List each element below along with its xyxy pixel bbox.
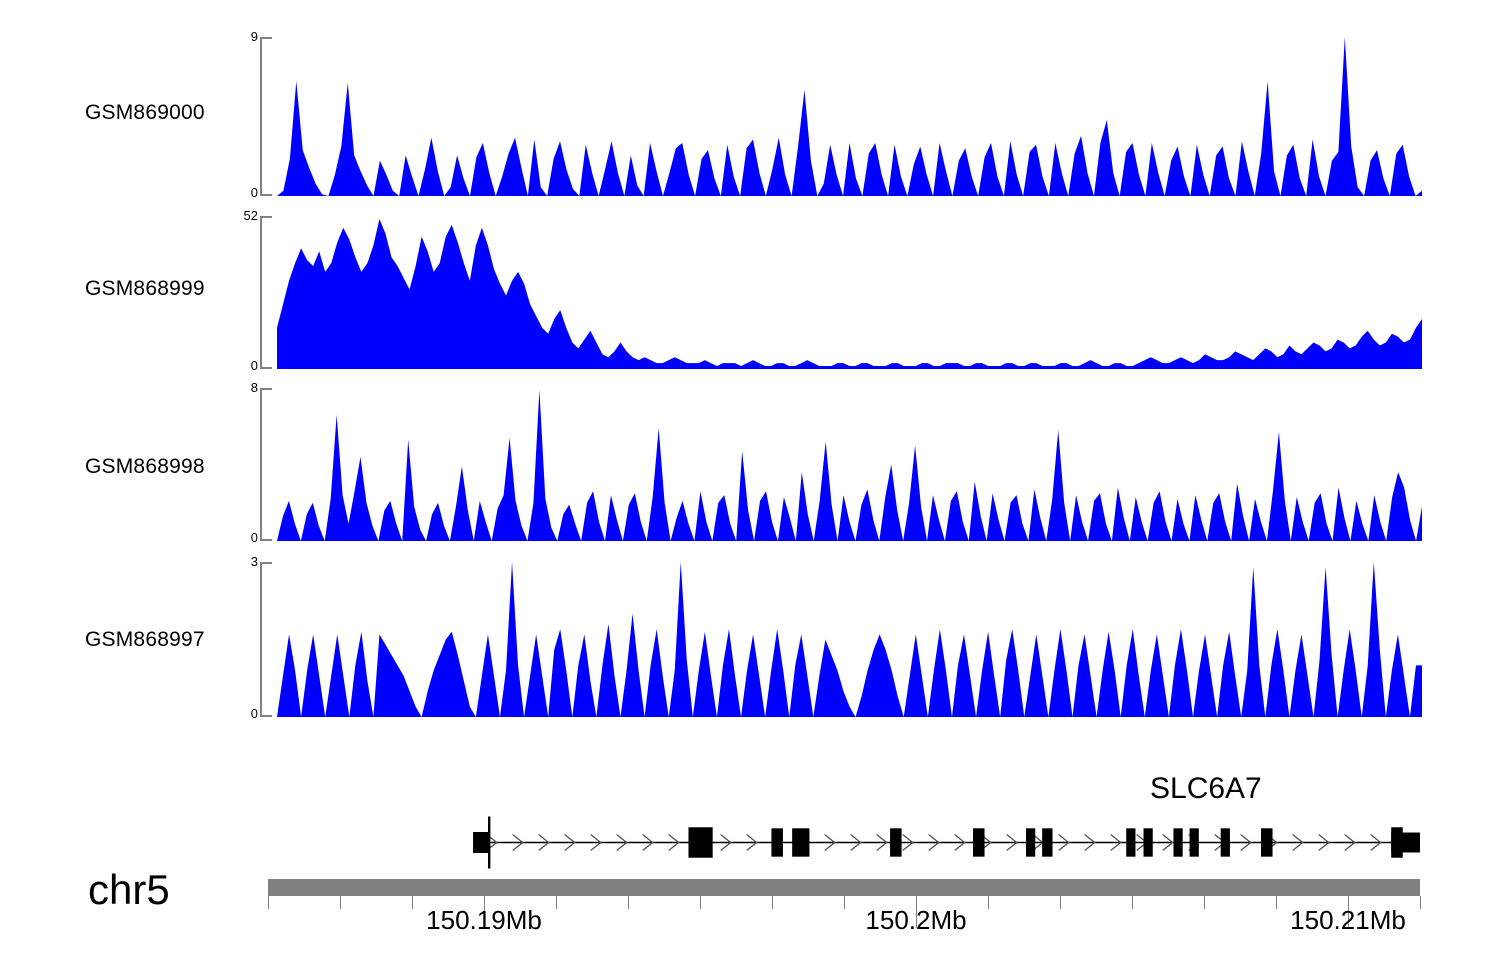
track-gsm868997[interactable]: GSM868997 3 0 (0, 552, 1500, 727)
track-label: GSM868999 (85, 277, 205, 301)
axis-minor-tick (1420, 896, 1421, 909)
axis-minor-tick (1276, 896, 1277, 909)
coverage-area (277, 562, 1422, 717)
axis-minor-tick (988, 896, 989, 909)
track-gsm868998[interactable]: GSM868998 8 0 (0, 380, 1500, 552)
track-label: GSM868997 (85, 628, 205, 652)
axis-minor-tick (844, 896, 845, 909)
genome-browser-view: GSM869000 9 0 GSM868999 52 0 GSM868998 8… (0, 0, 1500, 980)
exon-box[interactable] (1173, 828, 1182, 856)
exon-box[interactable] (890, 828, 902, 856)
gene-annotation-track[interactable]: SLC6A7 (0, 760, 1500, 980)
axis-min-value: 0 (218, 706, 258, 721)
exon-box[interactable] (771, 828, 783, 856)
exon-box[interactable] (688, 827, 712, 857)
exon-box[interactable] (1391, 833, 1420, 853)
coverage-plot[interactable] (277, 388, 1422, 541)
axis-tick-label: 150.21Mb (1290, 905, 1406, 936)
y-axis-bracket (260, 37, 272, 196)
axis-tick-label: 150.2Mb (865, 905, 966, 936)
axis-minor-tick (268, 896, 269, 909)
track-gsm869000[interactable]: GSM869000 9 0 (0, 0, 1500, 205)
coverage-plot[interactable] (277, 37, 1422, 196)
coverage-area (277, 390, 1422, 541)
axis-minor-tick (1060, 896, 1061, 909)
exon-box[interactable] (1190, 828, 1199, 856)
exon-box[interactable] (973, 828, 985, 856)
axis-max-value: 52 (218, 208, 258, 223)
axis-minor-tick (556, 896, 557, 909)
exon-box[interactable] (1042, 828, 1052, 856)
axis-max-value: 9 (218, 29, 258, 44)
axis-minor-tick (1132, 896, 1133, 909)
coverage-area (277, 37, 1422, 196)
axis-minor-tick (412, 896, 413, 909)
ideogram-bar[interactable] (268, 879, 1420, 896)
axis-minor-tick (700, 896, 701, 909)
coverage-area (277, 219, 1422, 369)
y-axis-bracket (260, 216, 272, 369)
axis-minor-tick (628, 896, 629, 909)
axis-minor-tick (1204, 896, 1205, 909)
chromosome-label: chr5 (88, 866, 170, 914)
exon-box[interactable] (473, 832, 489, 853)
track-label: GSM869000 (85, 101, 205, 125)
track-label: GSM868998 (85, 455, 205, 479)
axis-min-value: 0 (218, 185, 258, 200)
exon-box[interactable] (1026, 828, 1035, 856)
exon-box[interactable] (1144, 828, 1153, 856)
axis-max-value: 3 (218, 554, 258, 569)
axis-minor-tick (772, 896, 773, 909)
coverage-plot[interactable] (277, 216, 1422, 369)
axis-max-value: 8 (218, 380, 258, 395)
y-axis-bracket (260, 388, 272, 541)
axis-tick-label: 150.19Mb (426, 905, 542, 936)
exon-box[interactable] (1261, 828, 1273, 856)
track-gsm868999[interactable]: GSM868999 52 0 (0, 205, 1500, 380)
gene-model-diagram[interactable] (268, 805, 1420, 880)
exon-box[interactable] (1221, 828, 1230, 856)
axis-minor-tick (340, 896, 341, 909)
gene-name-label: SLC6A7 (1150, 772, 1262, 806)
axis-min-value: 0 (218, 530, 258, 545)
exon-box[interactable] (792, 828, 809, 856)
coverage-plot[interactable] (277, 562, 1422, 717)
exon-box[interactable] (1126, 828, 1135, 856)
y-axis-bracket (260, 562, 272, 717)
axis-min-value: 0 (218, 358, 258, 373)
